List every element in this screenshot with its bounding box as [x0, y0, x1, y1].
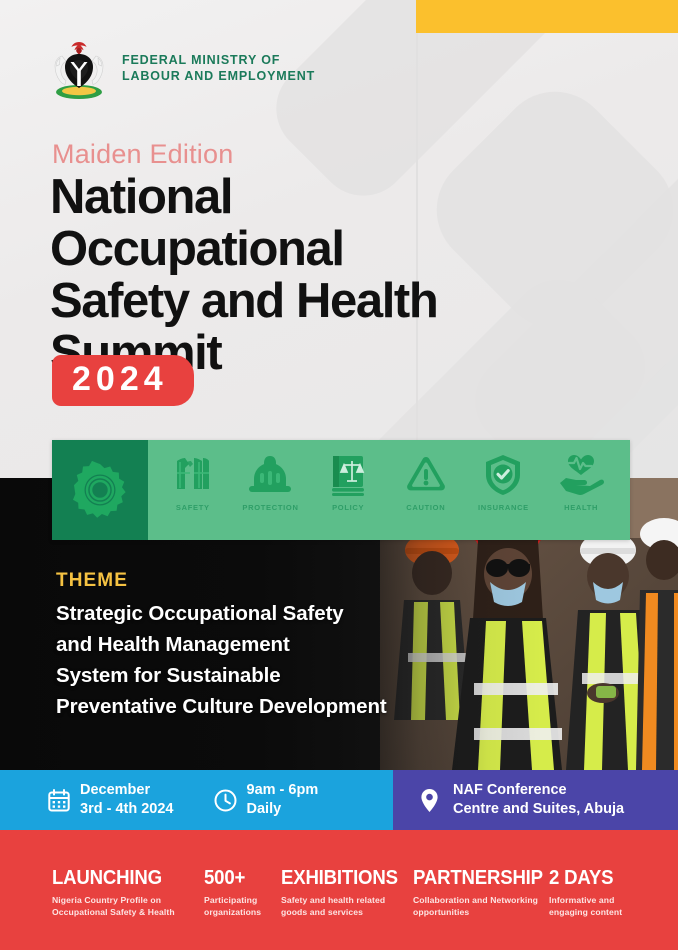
- ministry-line-1: FEDERAL MINISTRY OF: [122, 52, 315, 69]
- warning-triangle-icon: [404, 453, 448, 497]
- footer-sub-1: Collaboration and Networking: [413, 894, 549, 906]
- footer-sub-1: Participating: [204, 894, 281, 906]
- info-time-line-2: Daily: [247, 800, 319, 819]
- strip-item-protection: PROTECTION: [233, 453, 307, 512]
- info-bar-venue: NAF Conference Centre and Suites, Abuja: [393, 770, 678, 830]
- icon-strip-left-block: [52, 440, 148, 540]
- highlights-footer: LAUNCHING Nigeria Country Profile on Occ…: [0, 830, 678, 950]
- info-venue-line-2: Centre and Suites, Abuja: [453, 800, 624, 819]
- ministry-title: FEDERAL MINISTRY OF LABOUR AND EMPLOYMEN…: [122, 52, 315, 85]
- hard-hat-icon: [247, 453, 293, 497]
- strip-label: POLICY: [332, 503, 364, 512]
- footer-sub-2: engaging content: [549, 906, 649, 918]
- footer-item-launching: LAUNCHING Nigeria Country Profile on Occ…: [52, 868, 204, 919]
- hand-heartbeat-icon: [558, 453, 604, 497]
- nigeria-coat-of-arms-icon: [50, 36, 108, 100]
- footer-heading: EXHIBITIONS: [281, 868, 404, 888]
- theme-line-1: Strategic Occupational Safety: [56, 598, 387, 629]
- theme-label: THEME: [56, 570, 387, 592]
- info-venue-line-1: NAF Conference: [453, 781, 624, 800]
- footer-heading: 2 DAYS: [549, 868, 642, 888]
- year-badge: 2024: [52, 355, 194, 406]
- page-title: National Occupational Safety and Health …: [50, 172, 470, 380]
- footer-item-duration: 2 DAYS Informative and engaging content: [549, 868, 649, 919]
- strip-item-policy: POLICY: [311, 453, 385, 512]
- event-info-bar: December 3rd - 4th 2024 9am - 6pm Daily: [0, 770, 678, 830]
- info-bar-date-time: December 3rd - 4th 2024 9am - 6pm Daily: [0, 770, 393, 830]
- footer-sub-2: organizations: [204, 906, 281, 918]
- ministry-header: FEDERAL MINISTRY OF LABOUR AND EMPLOYMEN…: [50, 36, 315, 100]
- strip-item-caution: CAUTION: [389, 453, 463, 512]
- footer-sub-1: Nigeria Country Profile on: [52, 894, 204, 906]
- theme-line-3: System for Sustainable: [56, 660, 387, 691]
- info-venue: NAF Conference Centre and Suites, Abuja: [420, 781, 624, 819]
- calendar-icon: [48, 789, 70, 812]
- info-date-line-1: December: [80, 781, 174, 800]
- strip-label: SAFETY: [176, 503, 210, 512]
- footer-heading: 500+: [204, 868, 276, 888]
- info-time-line-1: 9am - 6pm: [247, 781, 319, 800]
- icon-strip-items: SAFETY PROTECTION: [148, 440, 630, 540]
- theme-line-2: and Health Management: [56, 629, 387, 660]
- info-date: December 3rd - 4th 2024: [48, 781, 174, 819]
- strip-item-insurance: INSURANCE: [466, 453, 540, 512]
- safety-vest-icon: [173, 453, 213, 497]
- strip-label: INSURANCE: [478, 503, 529, 512]
- footer-sub-1: Informative and: [549, 894, 649, 906]
- strip-label: PROTECTION: [242, 503, 298, 512]
- footer-heading: LAUNCHING: [52, 868, 193, 888]
- footer-sub-1: Safety and health related: [281, 894, 413, 906]
- shield-check-icon: [483, 453, 523, 497]
- theme-line-4: Preventative Culture Development: [56, 691, 387, 722]
- strip-label: HEALTH: [564, 503, 598, 512]
- footer-sub-2: opportunities: [413, 906, 549, 918]
- footer-item-participants: 500+ Participating organizations: [204, 868, 281, 919]
- event-poster: FEDERAL MINISTRY OF LABOUR AND EMPLOYMEN…: [0, 0, 678, 950]
- clock-icon: [214, 789, 237, 812]
- strip-item-health: HEALTH: [544, 453, 618, 512]
- icon-strip: SAFETY PROTECTION: [52, 440, 630, 540]
- footer-item-partnership: PARTNERSHIP Collaboration and Networking…: [413, 868, 549, 919]
- strip-item-safety: SAFETY: [156, 453, 230, 512]
- law-book-scales-icon: [327, 453, 369, 497]
- accent-bar: [416, 0, 678, 33]
- footer-heading: PARTNERSHIP: [413, 868, 539, 888]
- info-date-line-2: 3rd - 4th 2024: [80, 800, 174, 819]
- footer-sub-2: Occupational Safety & Health: [52, 906, 204, 918]
- footer-item-exhibitions: EXHIBITIONS Safety and health related go…: [281, 868, 413, 919]
- edition-eyebrow: Maiden Edition: [52, 139, 233, 170]
- footer-sub-2: goods and services: [281, 906, 413, 918]
- strip-label: CAUTION: [406, 503, 445, 512]
- location-pin-icon: [420, 788, 439, 813]
- ministry-line-2: LABOUR AND EMPLOYMENT: [122, 68, 315, 85]
- gear-icon: [71, 461, 129, 519]
- info-time: 9am - 6pm Daily: [214, 781, 319, 819]
- theme-block: THEME Strategic Occupational Safety and …: [56, 570, 387, 723]
